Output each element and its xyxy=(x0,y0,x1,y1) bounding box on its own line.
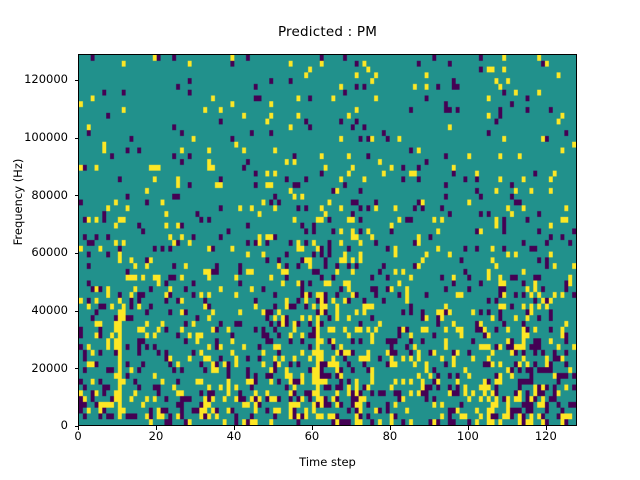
x-tick-label-0: 0 xyxy=(48,431,108,443)
matplotlib-figure: Predicted : PM 0 20000 40000 60000 80000… xyxy=(0,0,640,480)
y-tick-mark-4 xyxy=(75,195,79,196)
chart-title: Predicted : PM xyxy=(78,24,577,40)
x-tick-label-3: 60 xyxy=(282,431,342,443)
y-tick-mark-6 xyxy=(75,80,79,81)
x-tick-label-4: 80 xyxy=(360,431,420,443)
x-tick-label-2: 40 xyxy=(204,431,264,443)
y-tick-label-6: 120000 xyxy=(4,74,68,86)
heatmap-axes xyxy=(78,54,577,426)
x-axis-label: Time step xyxy=(78,455,577,469)
heatmap-image xyxy=(79,55,576,425)
x-tick-label-1: 20 xyxy=(126,431,186,443)
x-tick-label-5: 100 xyxy=(438,431,498,443)
y-tick-mark-1 xyxy=(75,368,79,369)
y-tick-label-2: 40000 xyxy=(4,305,68,317)
y-tick-mark-2 xyxy=(75,311,79,312)
x-tick-label-6: 120 xyxy=(516,431,576,443)
y-axis-label: Frequency (Hz) xyxy=(11,122,25,282)
y-tick-mark-5 xyxy=(75,138,79,139)
y-tick-label-1: 20000 xyxy=(4,363,68,375)
y-tick-mark-3 xyxy=(75,253,79,254)
